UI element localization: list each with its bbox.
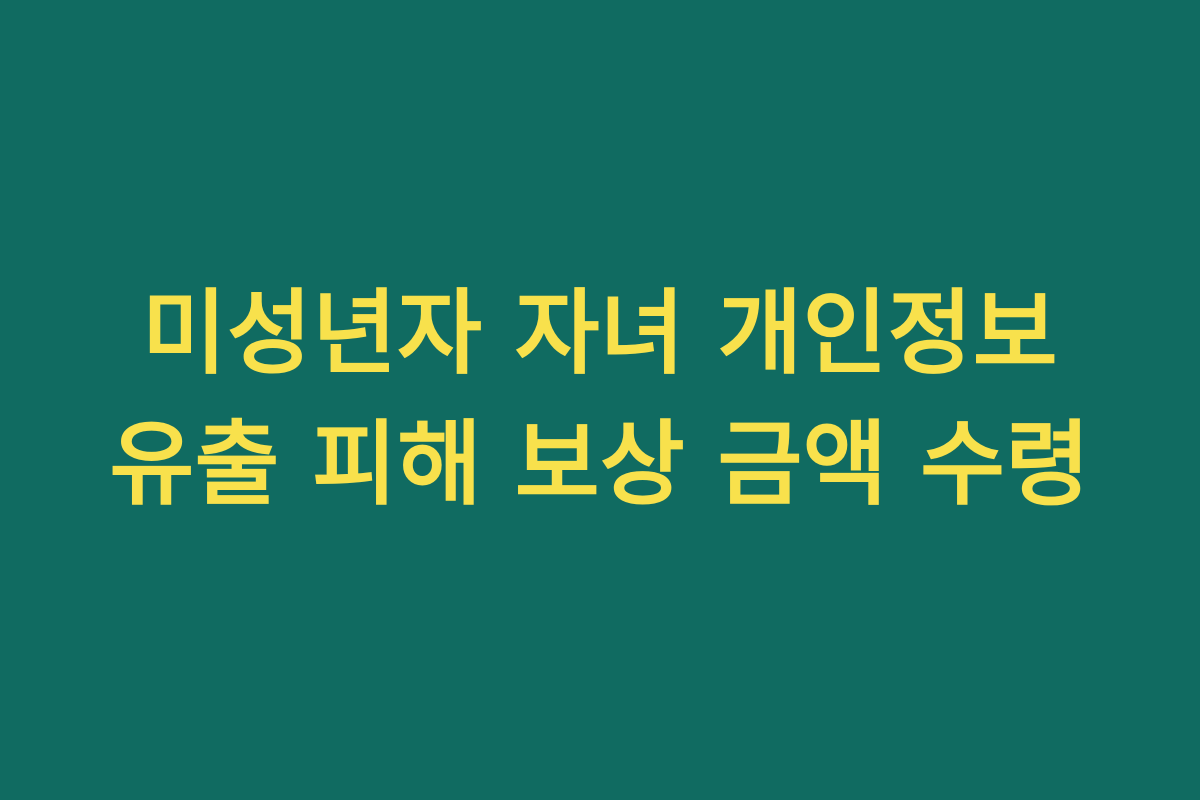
headline-block: 미성년자 자녀 개인정보 유출 피해 보상 금액 수령 (105, 269, 1095, 530)
banner-card: 미성년자 자녀 개인정보 유출 피해 보상 금액 수령 (0, 0, 1200, 800)
page-title: 미성년자 자녀 개인정보 유출 피해 보상 금액 수령 (105, 269, 1095, 530)
